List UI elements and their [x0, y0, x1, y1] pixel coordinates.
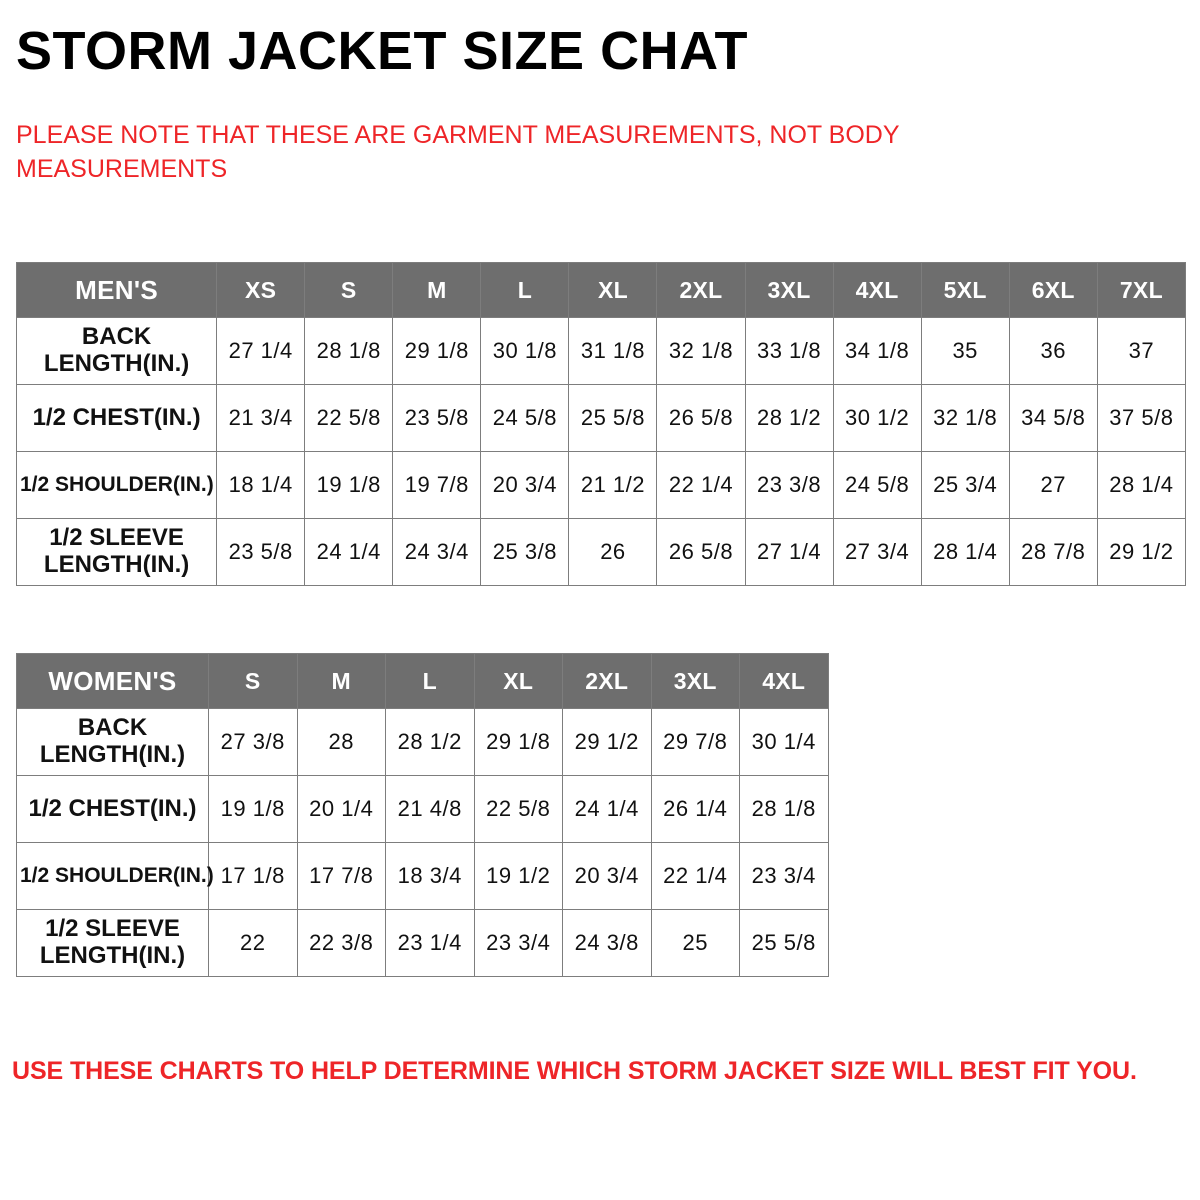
womens-cell-r1-c6: 28 1/8: [740, 776, 829, 843]
mens-cell-r0-c0: 27 1/4: [217, 318, 305, 385]
womens-size-column-xl: XL: [474, 654, 563, 709]
womens-size-column-2xl: 2XL: [563, 654, 652, 709]
mens-cell-r0-c2: 29 1/8: [393, 318, 481, 385]
womens-corner-label: WOMEN'S: [17, 654, 209, 709]
womens-cell-r0-c0: 27 3/8: [209, 709, 298, 776]
mens-cell-r3-c2: 24 3/4: [393, 519, 481, 586]
womens-cell-r3-c0: 22: [209, 910, 298, 977]
womens-header-row: WOMEN'SSMLXL2XL3XL4XL: [17, 654, 829, 709]
mens-cell-r2-c3: 20 3/4: [481, 452, 569, 519]
womens-measurement-label: BACKLENGTH(IN.): [17, 709, 209, 776]
mens-size-column-2xl: 2XL: [657, 263, 745, 318]
mens-corner-label: MEN'S: [17, 263, 217, 318]
womens-cell-r2-c4: 20 3/4: [563, 843, 652, 910]
mens-cell-r3-c9: 28 7/8: [1009, 519, 1097, 586]
mens-size-column-s: S: [305, 263, 393, 318]
womens-size-column-m: M: [297, 654, 386, 709]
mens-cell-r0-c3: 30 1/8: [481, 318, 569, 385]
womens-cell-r3-c6: 25 5/8: [740, 910, 829, 977]
mens-cell-r2-c1: 19 1/8: [305, 452, 393, 519]
womens-cell-r1-c3: 22 5/8: [474, 776, 563, 843]
table-row: 1/2 CHEST(IN.)21 3/422 5/823 5/824 5/825…: [17, 385, 1186, 452]
table-row: BACKLENGTH(IN.)27 3/82828 1/229 1/829 1/…: [17, 709, 829, 776]
mens-cell-r1-c5: 26 5/8: [657, 385, 745, 452]
mens-cell-r3-c3: 25 3/8: [481, 519, 569, 586]
table-row: 1/2 CHEST(IN.)19 1/820 1/421 4/822 5/824…: [17, 776, 829, 843]
mens-size-column-5xl: 5XL: [921, 263, 1009, 318]
mens-cell-r2-c9: 27: [1009, 452, 1097, 519]
mens-cell-r3-c10: 29 1/2: [1097, 519, 1185, 586]
womens-cell-r2-c6: 23 3/4: [740, 843, 829, 910]
womens-cell-r3-c3: 23 3/4: [474, 910, 563, 977]
mens-cell-r0-c1: 28 1/8: [305, 318, 393, 385]
mens-cell-r2-c0: 18 1/4: [217, 452, 305, 519]
womens-cell-r2-c2: 18 3/4: [386, 843, 475, 910]
mens-cell-r0-c6: 33 1/8: [745, 318, 833, 385]
womens-cell-r3-c2: 23 1/4: [386, 910, 475, 977]
mens-cell-r3-c5: 26 5/8: [657, 519, 745, 586]
mens-cell-r3-c1: 24 1/4: [305, 519, 393, 586]
mens-cell-r2-c4: 21 1/2: [569, 452, 657, 519]
mens-measurement-label: 1/2 SHOULDER(IN.): [17, 452, 217, 519]
mens-cell-r1-c2: 23 5/8: [393, 385, 481, 452]
womens-measurement-label: 1/2 CHEST(IN.): [17, 776, 209, 843]
womens-size-table-container: WOMEN'SSMLXL2XL3XL4XL BACKLENGTH(IN.)27 …: [16, 653, 829, 977]
womens-size-column-4xl: 4XL: [740, 654, 829, 709]
womens-cell-r2-c1: 17 7/8: [297, 843, 386, 910]
mens-cell-r2-c10: 28 1/4: [1097, 452, 1185, 519]
mens-size-column-xs: XS: [217, 263, 305, 318]
mens-cell-r1-c3: 24 5/8: [481, 385, 569, 452]
mens-cell-r0-c4: 31 1/8: [569, 318, 657, 385]
mens-cell-r1-c6: 28 1/2: [745, 385, 833, 452]
womens-table-body: BACKLENGTH(IN.)27 3/82828 1/229 1/829 1/…: [17, 709, 829, 977]
mens-size-column-3xl: 3XL: [745, 263, 833, 318]
mens-cell-r0-c10: 37: [1097, 318, 1185, 385]
mens-cell-r2-c6: 23 3/8: [745, 452, 833, 519]
mens-size-column-m: M: [393, 263, 481, 318]
womens-cell-r2-c3: 19 1/2: [474, 843, 563, 910]
womens-cell-r2-c0: 17 1/8: [209, 843, 298, 910]
womens-size-column-l: L: [386, 654, 475, 709]
mens-table-body: BACKLENGTH(IN.)27 1/428 1/829 1/830 1/83…: [17, 318, 1186, 586]
mens-cell-r0-c9: 36: [1009, 318, 1097, 385]
garment-measurement-note: PLEASE NOTE THAT THESE ARE GARMENT MEASU…: [16, 118, 1036, 186]
womens-size-table: WOMEN'SSMLXL2XL3XL4XL BACKLENGTH(IN.)27 …: [16, 653, 829, 977]
womens-cell-r1-c2: 21 4/8: [386, 776, 475, 843]
mens-cell-r1-c9: 34 5/8: [1009, 385, 1097, 452]
womens-size-column-3xl: 3XL: [651, 654, 740, 709]
mens-size-column-l: L: [481, 263, 569, 318]
mens-cell-r3-c8: 28 1/4: [921, 519, 1009, 586]
womens-cell-r0-c3: 29 1/8: [474, 709, 563, 776]
page-title: STORM JACKET SIZE CHAT: [16, 24, 748, 78]
mens-measurement-label: BACKLENGTH(IN.): [17, 318, 217, 385]
mens-cell-r0-c5: 32 1/8: [657, 318, 745, 385]
mens-cell-r3-c7: 27 3/4: [833, 519, 921, 586]
mens-cell-r1-c4: 25 5/8: [569, 385, 657, 452]
womens-table-head: WOMEN'SSMLXL2XL3XL4XL: [17, 654, 829, 709]
mens-cell-r1-c10: 37 5/8: [1097, 385, 1185, 452]
mens-measurement-label: 1/2 SLEEVELENGTH(IN.): [17, 519, 217, 586]
mens-cell-r2-c8: 25 3/4: [921, 452, 1009, 519]
mens-measurement-label: 1/2 CHEST(IN.): [17, 385, 217, 452]
table-row: 1/2 SHOULDER(IN.)18 1/419 1/819 7/820 3/…: [17, 452, 1186, 519]
mens-size-column-6xl: 6XL: [1009, 263, 1097, 318]
mens-cell-r1-c0: 21 3/4: [217, 385, 305, 452]
womens-cell-r1-c5: 26 1/4: [651, 776, 740, 843]
womens-measurement-label: 1/2 SHOULDER(IN.): [17, 843, 209, 910]
womens-cell-r0-c6: 30 1/4: [740, 709, 829, 776]
mens-table-head: MEN'SXSSMLXL2XL3XL4XL5XL6XL7XL: [17, 263, 1186, 318]
womens-cell-r2-c5: 22 1/4: [651, 843, 740, 910]
mens-cell-r3-c0: 23 5/8: [217, 519, 305, 586]
table-row: BACKLENGTH(IN.)27 1/428 1/829 1/830 1/83…: [17, 318, 1186, 385]
womens-cell-r1-c1: 20 1/4: [297, 776, 386, 843]
mens-size-column-7xl: 7XL: [1097, 263, 1185, 318]
mens-cell-r3-c4: 26: [569, 519, 657, 586]
womens-measurement-label: 1/2 SLEEVELENGTH(IN.): [17, 910, 209, 977]
womens-cell-r1-c0: 19 1/8: [209, 776, 298, 843]
use-charts-note: USE THESE CHARTS TO HELP DETERMINE WHICH…: [12, 1057, 1172, 1086]
womens-cell-r0-c4: 29 1/2: [563, 709, 652, 776]
mens-cell-r2-c7: 24 5/8: [833, 452, 921, 519]
mens-cell-r1-c7: 30 1/2: [833, 385, 921, 452]
mens-cell-r1-c1: 22 5/8: [305, 385, 393, 452]
mens-header-row: MEN'SXSSMLXL2XL3XL4XL5XL6XL7XL: [17, 263, 1186, 318]
table-row: 1/2 SLEEVELENGTH(IN.)2222 3/823 1/423 3/…: [17, 910, 829, 977]
mens-size-column-4xl: 4XL: [833, 263, 921, 318]
table-row: 1/2 SHOULDER(IN.)17 1/817 7/818 3/419 1/…: [17, 843, 829, 910]
womens-cell-r0-c1: 28: [297, 709, 386, 776]
womens-cell-r3-c5: 25: [651, 910, 740, 977]
table-row: 1/2 SLEEVELENGTH(IN.)23 5/824 1/424 3/42…: [17, 519, 1186, 586]
womens-size-column-s: S: [209, 654, 298, 709]
mens-cell-r2-c2: 19 7/8: [393, 452, 481, 519]
mens-cell-r0-c7: 34 1/8: [833, 318, 921, 385]
womens-cell-r1-c4: 24 1/4: [563, 776, 652, 843]
mens-size-table-container: MEN'SXSSMLXL2XL3XL4XL5XL6XL7XL BACKLENGT…: [16, 262, 1186, 586]
womens-cell-r0-c2: 28 1/2: [386, 709, 475, 776]
mens-size-column-xl: XL: [569, 263, 657, 318]
mens-cell-r1-c8: 32 1/8: [921, 385, 1009, 452]
mens-cell-r3-c6: 27 1/4: [745, 519, 833, 586]
womens-cell-r3-c4: 24 3/8: [563, 910, 652, 977]
womens-cell-r3-c1: 22 3/8: [297, 910, 386, 977]
womens-cell-r0-c5: 29 7/8: [651, 709, 740, 776]
mens-cell-r0-c8: 35: [921, 318, 1009, 385]
mens-size-table: MEN'SXSSMLXL2XL3XL4XL5XL6XL7XL BACKLENGT…: [16, 262, 1186, 586]
size-chart-page: STORM JACKET SIZE CHAT PLEASE NOTE THAT …: [0, 0, 1200, 1200]
mens-cell-r2-c5: 22 1/4: [657, 452, 745, 519]
